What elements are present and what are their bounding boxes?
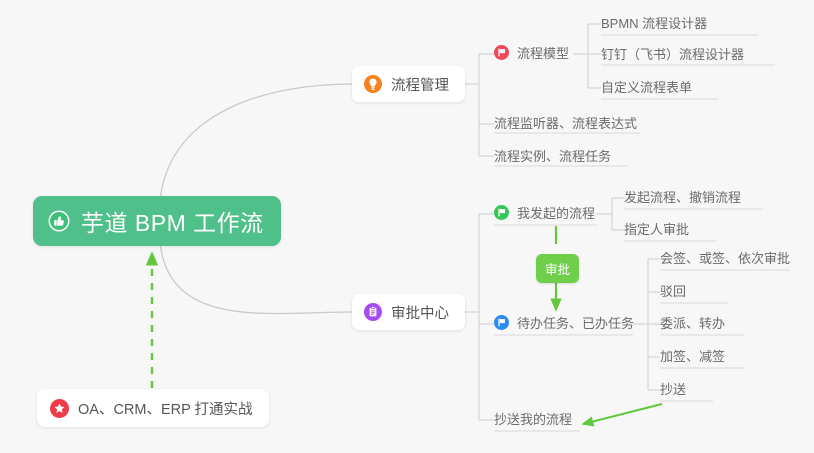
root-label: 芋道 BPM 工作流 [81, 204, 264, 238]
flag-red-icon [494, 45, 509, 60]
node-label: 我发起的流程 [517, 203, 595, 222]
node-label: 委派、转办 [660, 313, 725, 332]
node-label: 流程监听器、流程表达式 [494, 113, 637, 132]
link-root-to-approval-center [160, 243, 352, 314]
node-process-model[interactable]: 流程模型 [494, 43, 569, 66]
node-dingtalk-designer[interactable]: 钉钉（飞书）流程设计器 [601, 44, 744, 67]
node-delegate-transfer[interactable]: 委派、转办 [660, 313, 725, 336]
node-custom-form[interactable]: 自定义流程表单 [601, 77, 692, 100]
node-label: 会签、或签、依次审批 [660, 248, 790, 267]
node-instance-task[interactable]: 流程实例、流程任务 [494, 146, 611, 169]
flag-blue-icon [494, 315, 509, 330]
node-listener-expression[interactable]: 流程监听器、流程表达式 [494, 113, 637, 136]
link-root-to-process-management [160, 84, 352, 200]
callout-label: OA、CRM、ERP 打通实战 [78, 398, 253, 419]
root-node[interactable]: 芋道 BPM 工作流 [33, 196, 281, 246]
node-countersign[interactable]: 会签、或签、依次审批 [660, 248, 790, 271]
node-my-initiated-process[interactable]: 我发起的流程 [494, 203, 595, 226]
callout-node-integration[interactable]: OA、CRM、ERP 打通实战 [37, 389, 269, 427]
node-bpmn-designer[interactable]: BPMN 流程设计器 [601, 13, 707, 36]
node-reject[interactable]: 驳回 [660, 281, 686, 304]
node-label: 驳回 [660, 281, 686, 300]
node-label: 待办任务、已办任务 [517, 313, 634, 332]
node-add-remove-sign[interactable]: 加签、减签 [660, 346, 725, 369]
flag-green-icon [494, 205, 509, 220]
node-cc-to-me[interactable]: 抄送我的流程 [494, 409, 572, 432]
branch-label: 流程管理 [391, 74, 449, 95]
lightbulb-icon [364, 75, 382, 93]
node-todo-done-tasks[interactable]: 待办任务、已办任务 [494, 313, 634, 336]
node-label: 抄送我的流程 [494, 409, 572, 428]
branch-node-approval-center[interactable]: 审批中心 [352, 294, 465, 330]
branch-node-process-management[interactable]: 流程管理 [352, 66, 465, 102]
node-label: 抄送 [660, 379, 686, 398]
node-label: 加签、减签 [660, 346, 725, 365]
node-label: 钉钉（飞书）流程设计器 [601, 44, 744, 63]
thumbs-up-icon [48, 210, 70, 232]
mindmap-canvas: 芋道 BPM 工作流 流程管理 审批中心 [0, 0, 814, 453]
clipboard-icon [364, 303, 382, 321]
node-label: BPMN 流程设计器 [601, 13, 707, 32]
chip-approval[interactable]: 审批 [536, 254, 579, 283]
branch-label: 审批中心 [391, 302, 449, 323]
node-label: 流程实例、流程任务 [494, 146, 611, 165]
node-cc[interactable]: 抄送 [660, 379, 686, 402]
node-assignee-approval[interactable]: 指定人审批 [624, 219, 689, 242]
node-start-cancel-process[interactable]: 发起流程、撤销流程 [624, 187, 741, 210]
chip-label: 审批 [545, 263, 570, 277]
node-label: 自定义流程表单 [601, 77, 692, 96]
arrow-cc-to-cc-mine [583, 404, 662, 424]
star-icon [50, 399, 69, 418]
node-label: 发起流程、撤销流程 [624, 187, 741, 206]
node-label: 指定人审批 [624, 219, 689, 238]
node-label: 流程模型 [517, 43, 569, 62]
